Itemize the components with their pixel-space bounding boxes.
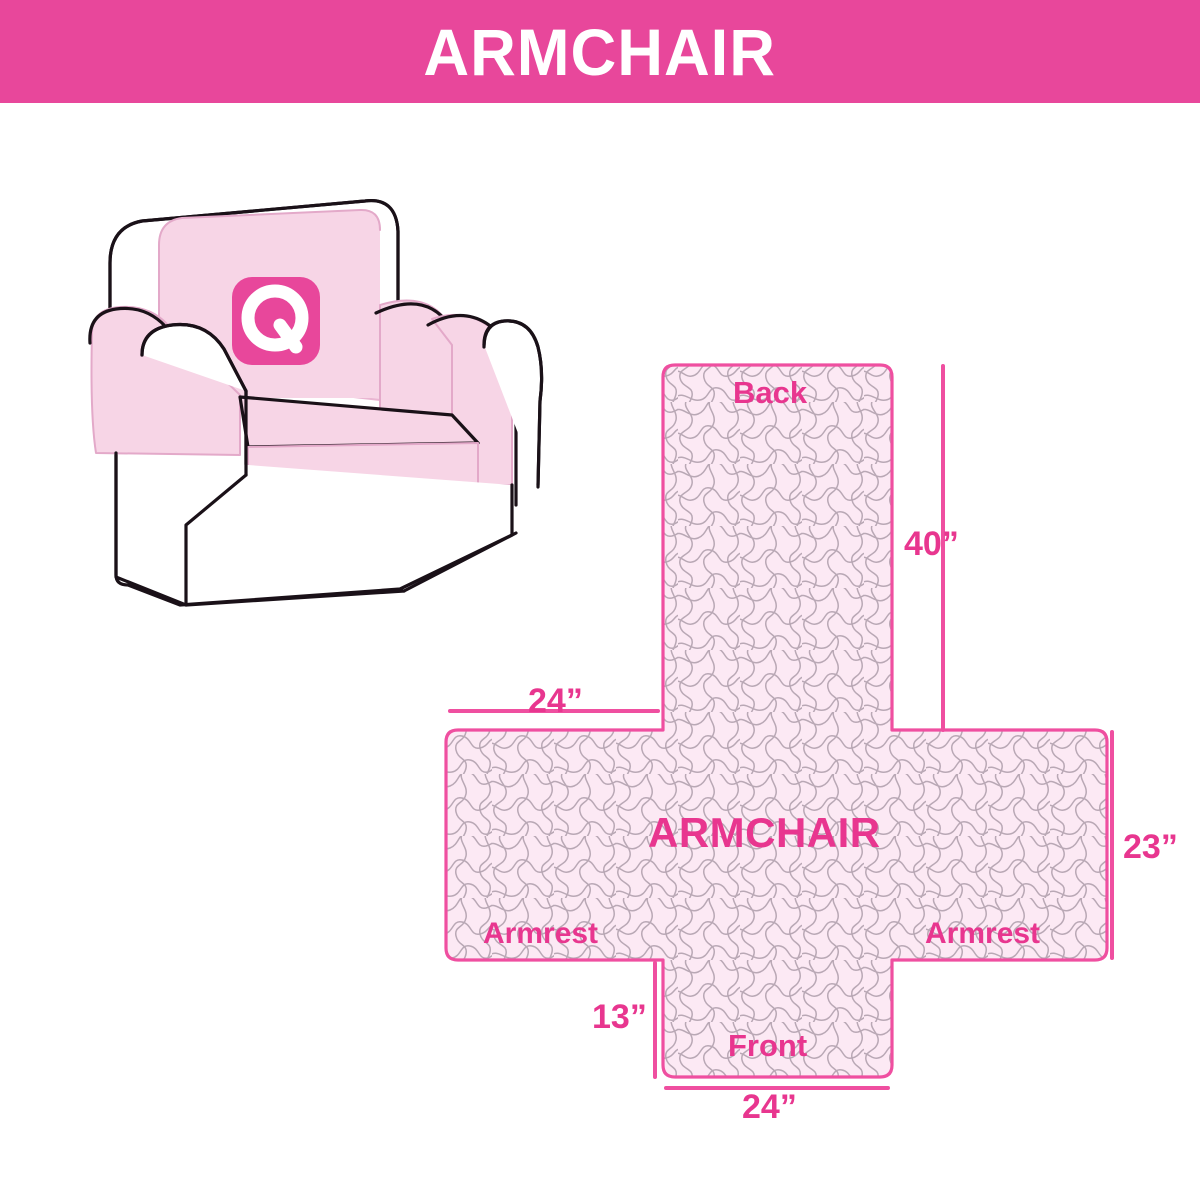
panel-label-center: ARMCHAIR	[648, 812, 881, 854]
brand-logo	[232, 277, 320, 365]
page-title: ARMCHAIR	[424, 19, 777, 85]
panel-label-armrest-left: Armrest	[483, 919, 598, 949]
slipcover-cross-shape	[446, 365, 1107, 1077]
dimension-label-front-length: 13”	[592, 1000, 647, 1034]
header-banner: ARMCHAIR	[0, 0, 1200, 103]
dimension-label-back-length: 40”	[904, 527, 959, 561]
dimension-label-front-width: 24”	[742, 1090, 797, 1124]
panel-label-back: Back	[733, 377, 807, 408]
dimension-label-center-height: 23”	[1123, 830, 1178, 864]
size-chart-page: ARMCHAIR	[0, 0, 1200, 1200]
slipcover-layout-diagram	[430, 340, 1200, 1140]
panel-label-armrest-right: Armrest	[925, 919, 1040, 949]
panel-label-front: Front	[728, 1030, 807, 1061]
dimension-label-armrest-width: 24”	[528, 684, 583, 718]
